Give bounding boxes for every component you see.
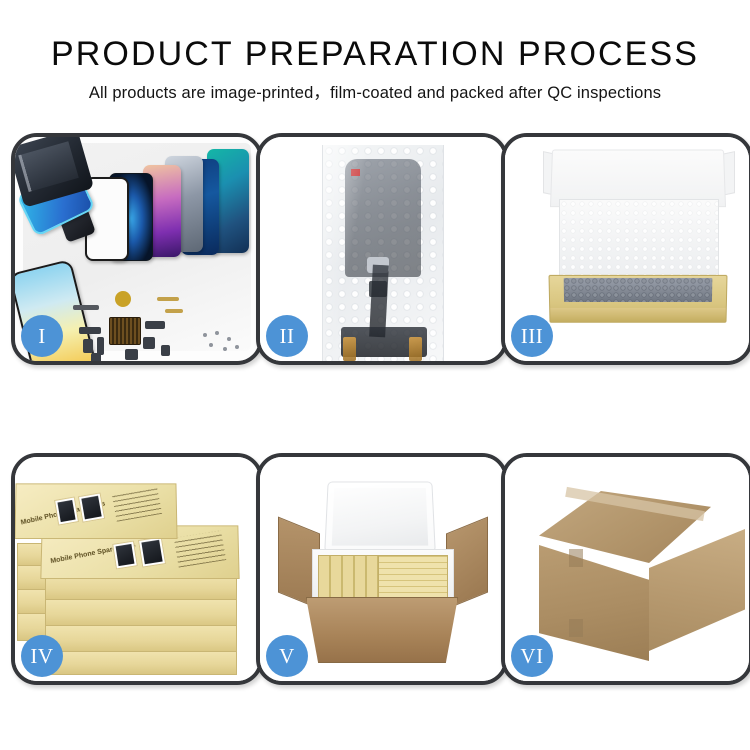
gray-foam-insert	[564, 278, 713, 302]
screw-3	[227, 337, 231, 341]
process-step-panel-2[interactable]: II	[256, 133, 508, 365]
part-flex-cable-2	[165, 309, 183, 313]
red-label-tag	[351, 169, 360, 176]
box-window-left-1	[54, 497, 79, 526]
gold-contact-right	[409, 337, 422, 361]
part-bracket-1	[79, 327, 101, 334]
process-step-panel-5[interactable]: V	[256, 453, 508, 685]
white-foam-sheet	[559, 199, 719, 279]
part-bracket-2	[83, 339, 93, 353]
process-step-panel-6[interactable]: VI	[501, 453, 750, 685]
part-button	[143, 337, 155, 349]
gold-contact-left	[343, 337, 356, 361]
foam-lid-open	[324, 482, 436, 553]
step-badge-3: III	[511, 315, 553, 357]
process-step-panel-4[interactable]: Mobile Phone Spare Parts Mobile Phone Sp…	[11, 453, 263, 685]
stacked-box-printed-1: Mobile Phone Spare Parts	[15, 483, 178, 539]
screw-5	[223, 347, 227, 351]
page-title: PRODUCT PREPARATION PROCESS	[0, 34, 750, 74]
bubble-wrap-bag	[322, 145, 444, 361]
box-window-right-2	[138, 536, 166, 567]
phone-white-front-glass	[85, 177, 129, 261]
box-window-right-1	[78, 492, 105, 522]
screw-4	[209, 343, 213, 347]
tray-front-lip	[550, 308, 726, 322]
part-speaker-gold	[115, 291, 131, 307]
part-sensor	[91, 353, 101, 361]
step-badge-2: II	[266, 315, 308, 357]
part-connector-array	[109, 317, 141, 345]
page-header: PRODUCT PREPARATION PROCESS All products…	[0, 0, 750, 104]
step-badge-1: I	[21, 315, 63, 357]
packed-yellow-boxes-row-2	[378, 555, 448, 599]
carton-body	[306, 597, 458, 663]
step-badge-5: V	[266, 635, 308, 677]
screw-1	[203, 333, 207, 337]
part-camera-flex	[145, 321, 165, 329]
part-flex-cable-1	[157, 297, 179, 301]
part-sim-tray	[161, 345, 170, 356]
step-badge-6: VI	[511, 635, 553, 677]
page-subtitle: All products are image-printed，film-coat…	[0, 82, 750, 104]
screw-6	[235, 345, 239, 349]
part-vibrator	[125, 349, 138, 360]
process-step-panel-3[interactable]: III	[501, 133, 750, 365]
step-badge-4: IV	[21, 635, 63, 677]
part-antenna-strip	[73, 305, 99, 310]
stacked-box-front-2	[45, 599, 237, 627]
stacked-box-front-4	[45, 651, 237, 675]
carton-tape-mark-bottom	[569, 619, 583, 637]
screws-group	[201, 331, 247, 353]
process-step-grid: I II	[0, 133, 750, 693]
yellow-box-tray	[549, 275, 728, 323]
box-window-left-2	[112, 541, 138, 570]
screw-2	[215, 331, 219, 335]
stacked-box-front-3	[45, 625, 237, 653]
carton-tape-mark-top	[569, 549, 583, 567]
process-step-panel-1[interactable]: I	[11, 133, 263, 365]
